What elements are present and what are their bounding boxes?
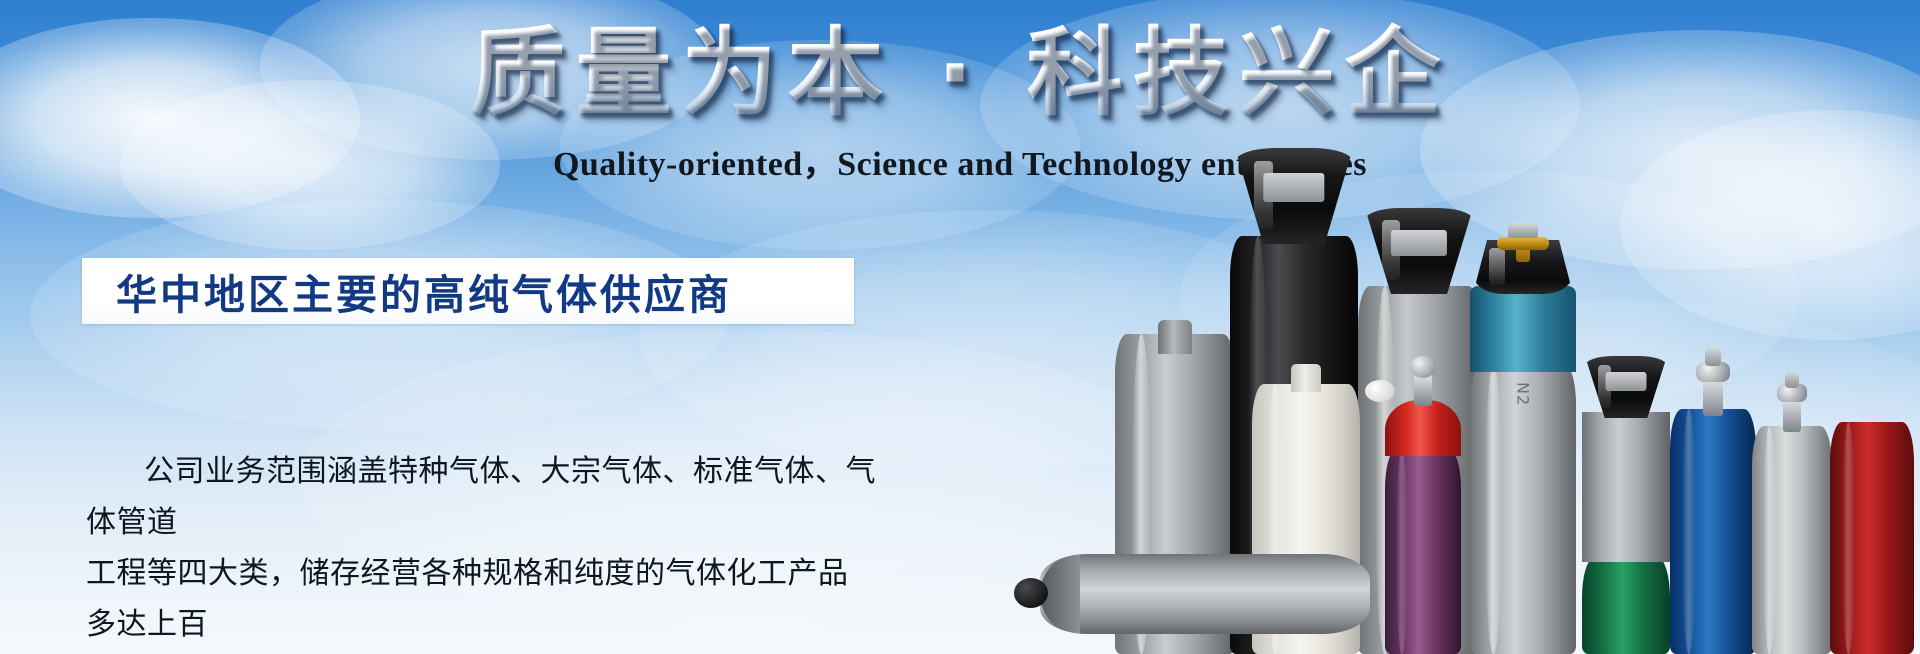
cylinder-valve	[1703, 376, 1723, 416]
description-paragraph: 公司业务范围涵盖特种气体、大宗气体、标准气体、气体管道 工程等四大类，储存经营各…	[86, 446, 876, 654]
cylinder-cap	[1365, 208, 1473, 294]
cylinder-cap	[1585, 356, 1667, 418]
slogan-box: 华中地区主要的高纯气体供应商	[82, 258, 854, 324]
brass-handwheel	[1497, 237, 1549, 250]
cylinder-cap	[1235, 148, 1353, 244]
dark-red-cylinder	[1830, 416, 1914, 654]
horizontal-cylinder-valve	[1014, 578, 1048, 608]
green-silver-cylinder	[1582, 330, 1670, 654]
slogan-text: 华中地区主要的高纯气体供应商	[82, 261, 732, 321]
cylinder-text-label: N2	[1514, 382, 1533, 406]
blue-cylinder	[1670, 336, 1756, 654]
description-line-3: 种，还可按需定制如硅烷、锗烷、磷烷混合气及其它标准气体。	[86, 650, 876, 654]
valve-knob	[1410, 356, 1436, 378]
silver-cylinder	[1752, 358, 1832, 654]
description-line-1: 公司业务范围涵盖特种气体、大宗气体、标准气体、气体管道	[86, 446, 876, 548]
red-purple-cylinder	[1385, 354, 1461, 654]
horizontal-gray-cylinder	[1040, 554, 1370, 634]
hero-banner: 质量为本 · 科技兴企 Quality-oriented，Science and…	[0, 0, 1920, 654]
gas-cylinders-group: N2	[1130, 0, 1920, 654]
teal-blue-cylinder: N2	[1470, 222, 1576, 654]
description-line-2: 工程等四大类，储存经营各种规格和纯度的气体化工产品多达上百	[86, 548, 876, 650]
